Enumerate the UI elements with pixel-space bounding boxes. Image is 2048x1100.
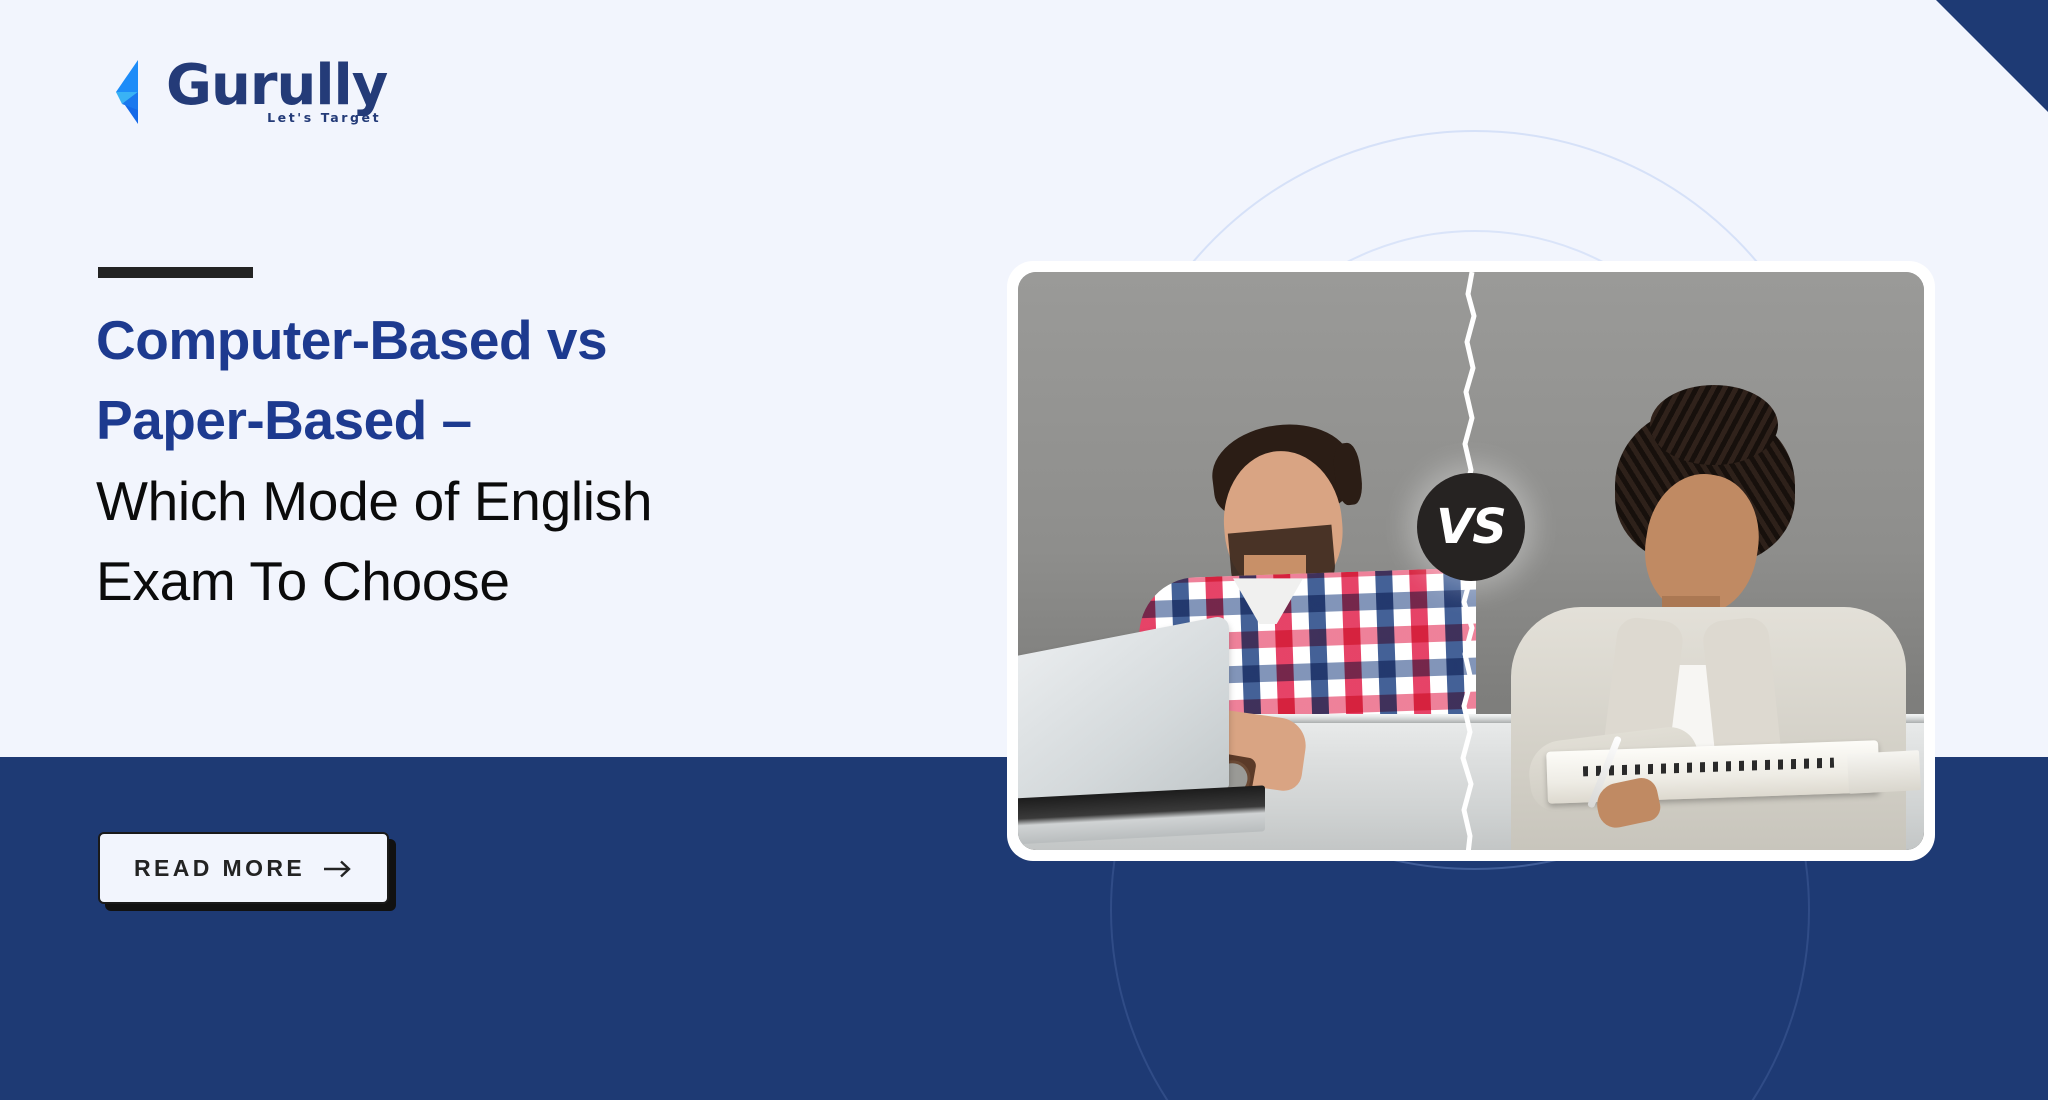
headline-line-4: Exam To Choose: [96, 541, 996, 621]
corner-triangle-decor: [1936, 0, 2048, 112]
woman-hair-bun: [1650, 385, 1778, 465]
stacked-papers: [1847, 750, 1921, 794]
hero-image-card: VS: [1007, 261, 1935, 861]
left-photo-computer-based: [1018, 272, 1476, 850]
promo-banner: Gurully Let's Target Computer-Based vs P…: [0, 0, 2048, 1100]
arrow-right-icon: [323, 858, 353, 880]
headline-line-1: Computer-Based vs: [96, 300, 996, 380]
read-more-label: READ MORE: [134, 855, 305, 882]
page-title: Computer-Based vs Paper-Based – Which Mo…: [96, 300, 996, 621]
headline-accent-bar: [98, 267, 253, 278]
headline-line-3: Which Mode of English: [96, 461, 996, 541]
chevron-left-arrow-icon: [98, 58, 158, 126]
vs-badge: VS: [1417, 473, 1525, 581]
read-more-button[interactable]: READ MORE: [98, 832, 389, 904]
vs-label: VS: [1436, 499, 1506, 555]
headline-line-2: Paper-Based –: [96, 380, 996, 460]
brand-name: Gurully: [166, 59, 387, 114]
right-photo-paper-based: [1476, 272, 1924, 850]
hero-image: VS: [1018, 272, 1924, 850]
brand-logo[interactable]: Gurully Let's Target: [98, 58, 387, 126]
brand-tagline: Let's Target: [267, 110, 381, 125]
